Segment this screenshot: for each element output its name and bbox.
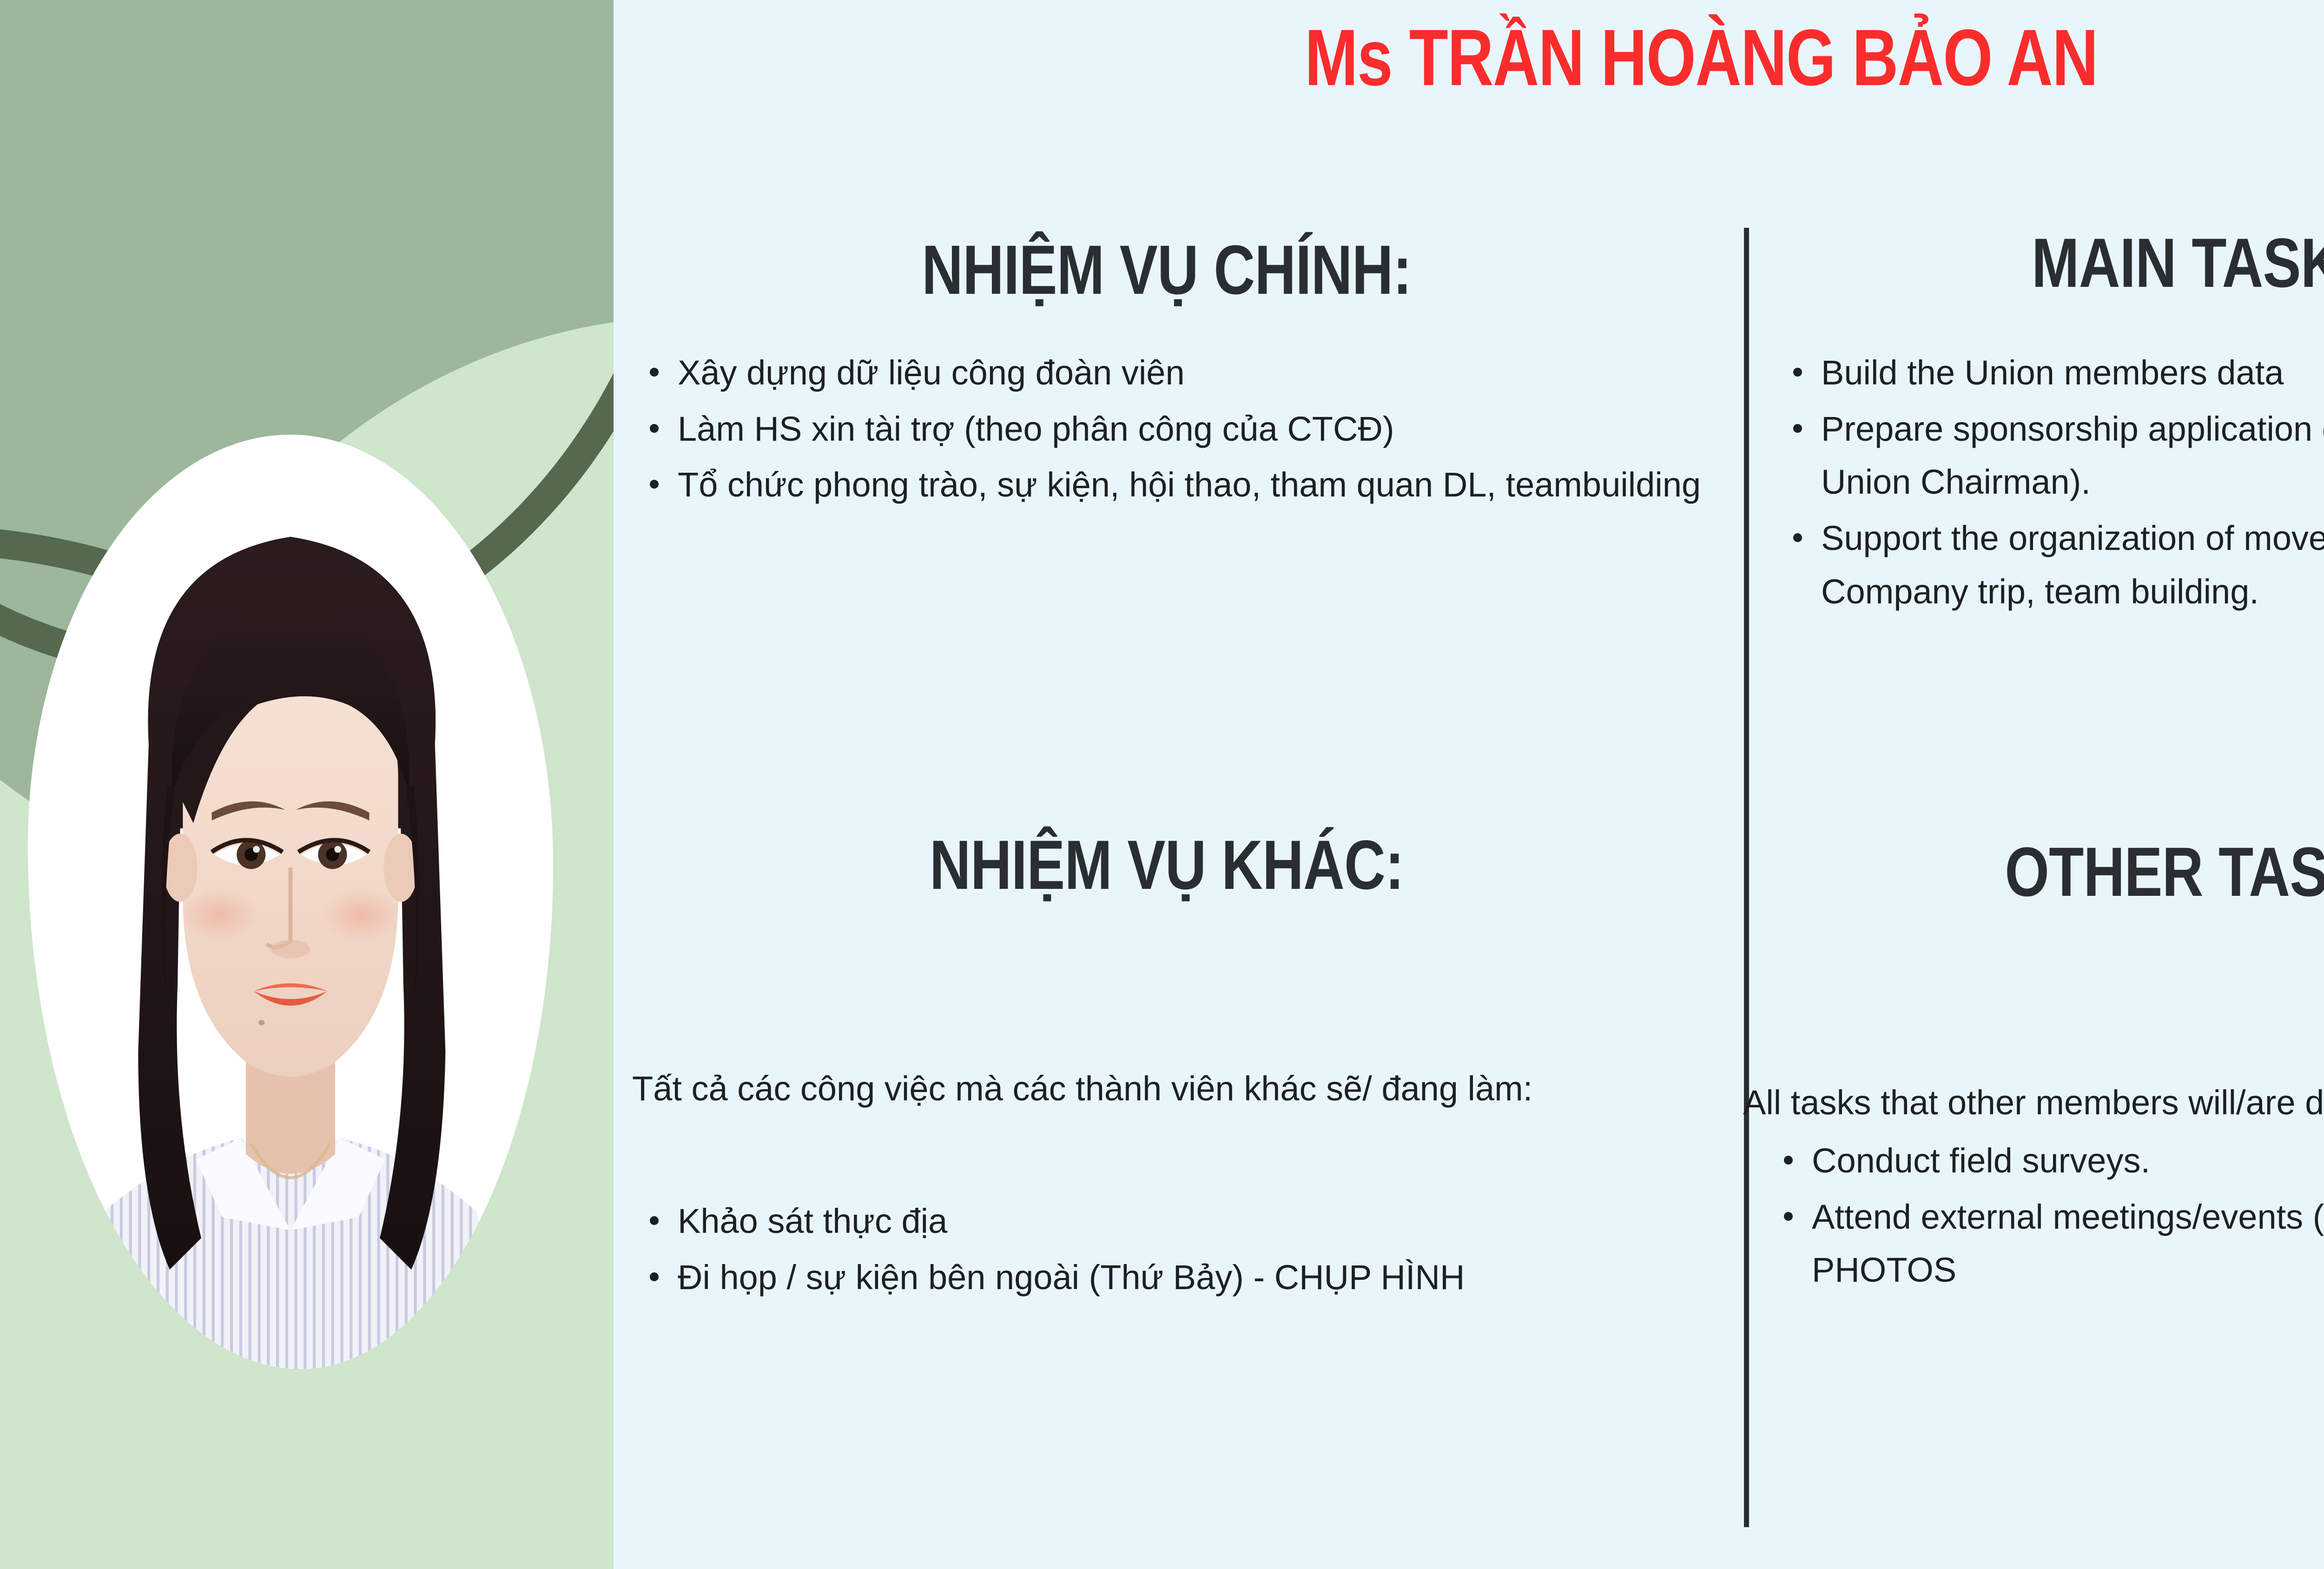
list-item: Đi họp / sự kiện bên ngoài (Thứ Bảy) - C… [627,1251,1710,1304]
list-item: Khảo sát thực địa [627,1195,1710,1248]
left-other-lead: Tất cả các công việc mà các thành viên k… [632,1062,1734,1116]
right-other-task-list: Conduct field surveys. Attend external m… [1762,1134,2324,1300]
portrait-photo [28,435,553,1369]
left-other-task-list: Khảo sát thực địa Đi họp / sự kiện bên n… [627,1195,1710,1307]
list-item: Xây dựng dữ liệu công đoàn viên [627,346,1710,400]
left-decorative-panel [0,0,614,1569]
right-main-task-list: Build the Union members data Prepare spo… [1771,346,2324,621]
page-title: Ms TRẦN HOÀNG BẢO AN [831,18,2324,98]
heading-other-tasks: OTHER TASKS [1849,837,2324,907]
avatar [28,435,553,1369]
list-item: Support the organization of movements, e… [1771,512,2324,618]
list-item: Attend external meetings/events (on Satu… [1762,1191,2324,1297]
heading-nhiem-vu-khac: NHIỆM VỤ KHÁC: [725,830,1609,900]
poster-canvas: Ms TRẦN HOÀNG BẢO AN NHIỆM VỤ CHÍNH: Xây… [0,0,2324,1569]
right-other-lead: All tasks that other members will/are do… [1743,1076,2324,1130]
left-main-task-list: Xây dựng dữ liệu công đoàn viên Làm HS x… [627,346,1710,515]
portrait-blob-mask [28,435,553,1369]
list-item: Conduct field surveys. [1762,1134,2324,1188]
heading-main-tasks: MAIN TASKS [1849,228,2324,298]
list-item: Làm HS xin tài trợ (theo phân công của C… [627,403,1710,456]
list-item: Prepare sponsorship application dossiers… [1771,403,2324,509]
list-item: Tổ chức phong trào, sự kiện, hội thao, t… [627,458,1710,512]
heading-nhiem-vu-chinh: NHIỆM VỤ CHÍNH: [725,235,1609,305]
list-item: Build the Union members data [1771,346,2324,400]
vertical-divider [1744,228,1749,1527]
